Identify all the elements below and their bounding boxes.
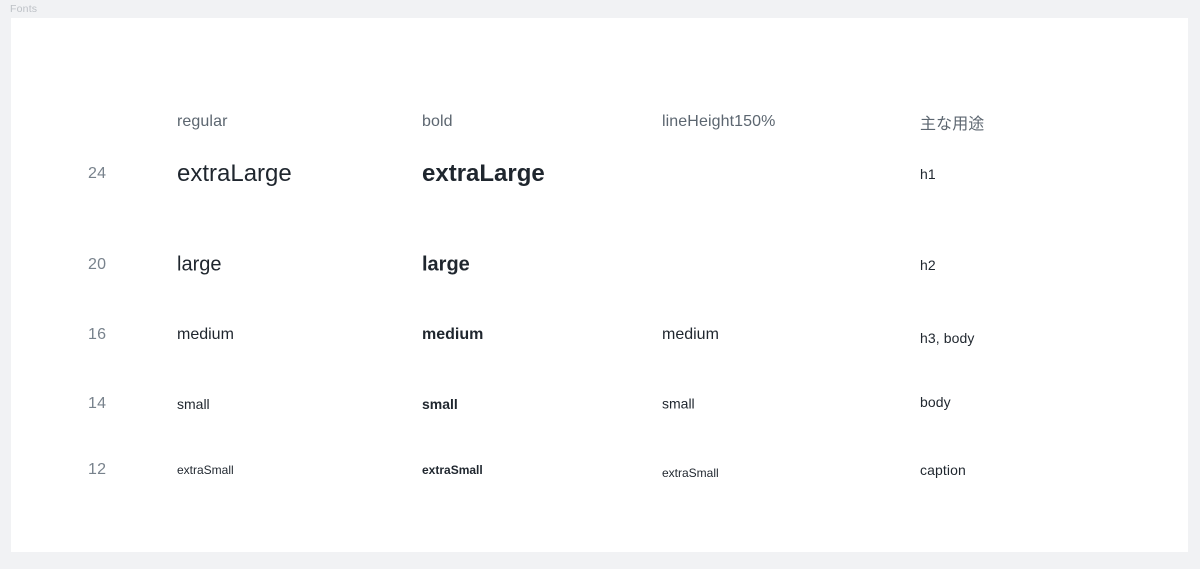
sample-regular-medium: medium bbox=[177, 326, 234, 344]
row-size-label-24: 24 bbox=[88, 165, 106, 183]
column-header-usage: 主な用途 bbox=[920, 110, 984, 134]
usage-large: h2 bbox=[920, 257, 936, 273]
row-size-label-12: 12 bbox=[88, 461, 106, 479]
column-header-lineheight: lineHeight150% bbox=[662, 113, 775, 131]
sample-regular-large: large bbox=[177, 254, 221, 277]
sample-regular-extrasmall: extraSmall bbox=[177, 463, 234, 477]
row-size-label-14: 14 bbox=[88, 395, 106, 413]
sample-bold-extrasmall: extraSmall bbox=[422, 463, 483, 477]
sample-bold-medium: medium bbox=[422, 326, 483, 344]
sample-lineheight-small: small bbox=[662, 394, 695, 415]
sample-regular-small: small bbox=[177, 396, 210, 412]
typography-scale-table: regular bold lineHeight150% 主な用途 24 extr… bbox=[11, 18, 1188, 552]
row-size-label-16: 16 bbox=[88, 326, 106, 344]
fonts-card: regular bold lineHeight150% 主な用途 24 extr… bbox=[11, 18, 1188, 552]
sample-bold-extralarge: extraLarge bbox=[422, 160, 545, 188]
usage-medium: h3, body bbox=[920, 330, 975, 346]
fonts-story-canvas: Fonts regular bold lineHeight150% 主な用途 2… bbox=[0, 0, 1200, 569]
column-header-bold: bold bbox=[422, 113, 453, 131]
sample-lineheight-medium: medium bbox=[662, 323, 719, 347]
usage-small: body bbox=[920, 394, 951, 410]
sample-lineheight-extrasmall: extraSmall bbox=[662, 464, 719, 482]
story-title-label: Fonts bbox=[10, 3, 37, 15]
sample-regular-extralarge: extraLarge bbox=[177, 160, 292, 188]
story-topbar: Fonts bbox=[0, 0, 1200, 18]
sample-bold-small: small bbox=[422, 396, 458, 412]
usage-extrasmall: caption bbox=[920, 462, 966, 478]
row-size-label-20: 20 bbox=[88, 256, 106, 274]
usage-extralarge: h1 bbox=[920, 166, 936, 182]
sample-bold-large: large bbox=[422, 254, 470, 277]
column-header-regular: regular bbox=[177, 113, 228, 131]
